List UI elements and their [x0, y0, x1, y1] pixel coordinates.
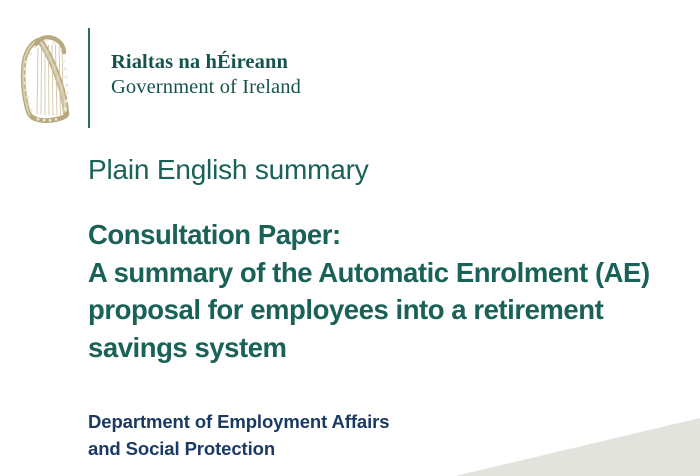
document-cover-page: Rialtas na hÉireann Government of Irelan… [0, 0, 700, 476]
masthead-divider [88, 28, 90, 128]
title-line-1: Consultation Paper: [88, 216, 698, 254]
harp-icon [14, 26, 78, 130]
department-name: Department of Employment Affairs and Soc… [88, 408, 508, 462]
wordmark-irish: Rialtas na hÉireann [111, 50, 301, 75]
title-line-3: proposal for employees into a retirement [88, 291, 698, 329]
department-line-1: Department of Employment Affairs [88, 408, 508, 435]
masthead: Rialtas na hÉireann Government of Irelan… [14, 26, 301, 130]
title-line-4: savings system [88, 329, 698, 367]
masthead-wordmark: Rialtas na hÉireann Government of Irelan… [111, 26, 301, 130]
department-line-2: and Social Protection [88, 435, 508, 462]
plain-english-summary-label: Plain English summary [88, 154, 369, 186]
wordmark-english: Government of Ireland [111, 75, 301, 100]
title-line-2: A summary of the Automatic Enrolment (AE… [88, 254, 698, 292]
page-title: Consultation Paper: A summary of the Aut… [88, 216, 698, 366]
